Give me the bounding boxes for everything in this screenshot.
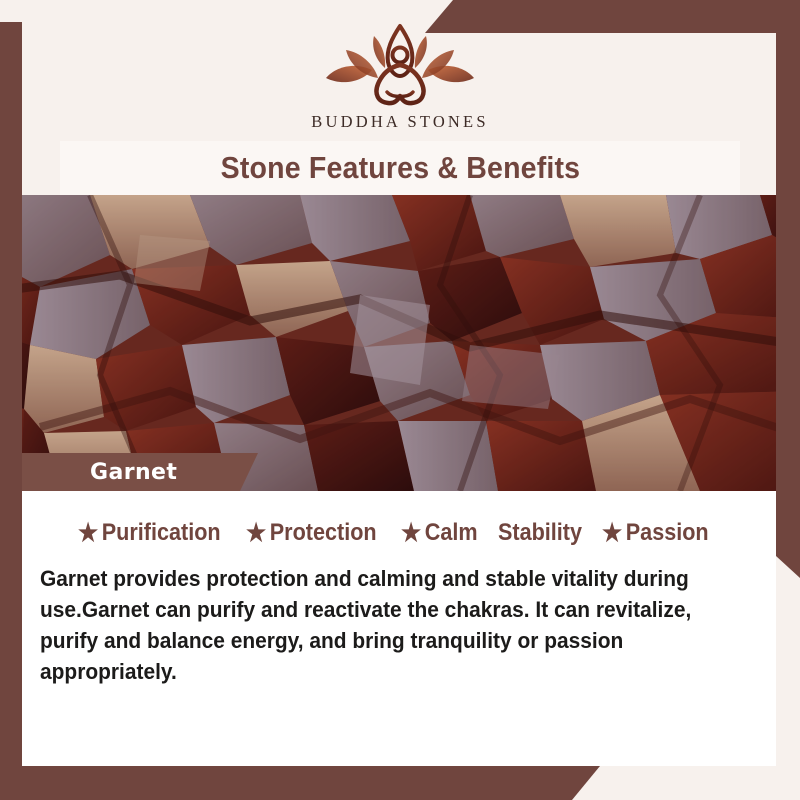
stone-name-tag: Garnet	[22, 453, 258, 491]
page-title-band: Stone Features & Benefits	[60, 141, 740, 195]
benefit-item-purification: ★ Purification	[78, 519, 221, 547]
benefit-label: Passion	[626, 519, 709, 547]
stone-info-poster: BUDDHA STONES Stone Features & Benefits	[0, 0, 800, 800]
benefit-item-passion: ★ Passion	[602, 519, 709, 547]
page-title: Stone Features & Benefits	[220, 150, 580, 186]
benefit-label: Stability	[498, 519, 582, 547]
lotus-meditation-icon	[316, 22, 484, 110]
stone-name-label: Garnet	[90, 460, 177, 485]
star-icon: ★	[401, 521, 421, 546]
brand-logo: BUDDHA STONES	[311, 22, 488, 132]
frame-corner-top-right	[425, 0, 800, 33]
benefit-item-protection: ★ Protection	[246, 519, 377, 547]
frame-border-left	[0, 22, 22, 778]
frame-border-right	[776, 0, 800, 578]
stone-details-section: ★ Purification ★ Protection ★ Calm Stabi…	[22, 491, 776, 766]
stone-description: Garnet provides protection and calming a…	[40, 563, 747, 687]
star-icon: ★	[602, 521, 622, 546]
brand-name: BUDDHA STONES	[311, 112, 488, 132]
benefit-item-stability: Stability	[498, 519, 582, 547]
benefit-label: Purification	[102, 519, 221, 547]
benefit-label: Calm	[425, 519, 478, 547]
frame-corner-bottom-left	[0, 766, 600, 800]
benefits-list: ★ Purification ★ Protection ★ Calm Stabi…	[22, 491, 776, 547]
star-icon: ★	[78, 521, 98, 546]
benefit-item-calm: ★ Calm	[401, 519, 478, 547]
benefit-label: Protection	[270, 519, 377, 547]
star-icon: ★	[246, 521, 266, 546]
garnet-crystals-photo	[0, 195, 800, 491]
